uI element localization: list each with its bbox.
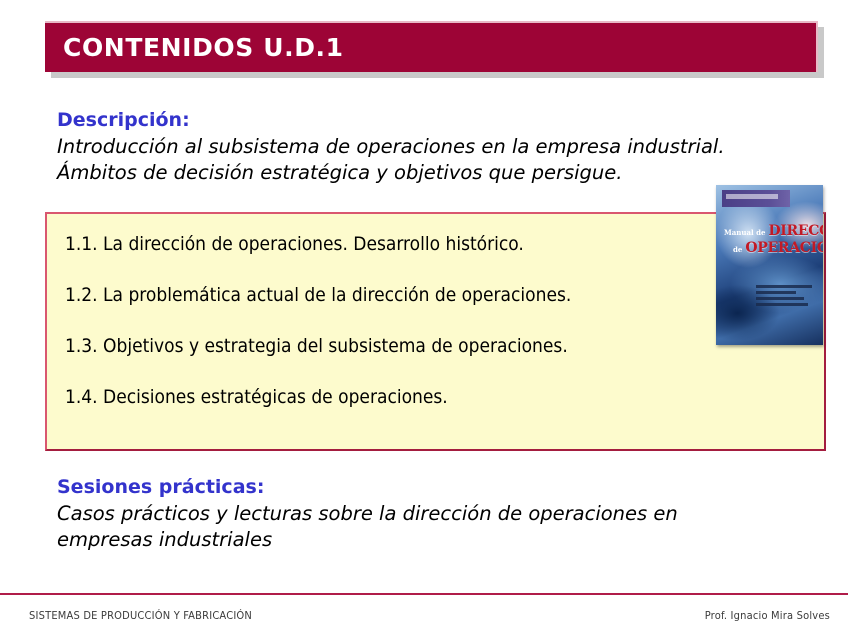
book-title-block: Manual de DIRECCIÓN de OPERACIONES bbox=[724, 223, 820, 256]
page-title: CONTENIDOS U.D.1 bbox=[45, 33, 344, 62]
book-cover-image: Manual de DIRECCIÓN de OPERACIONES bbox=[716, 185, 823, 345]
list-item: 1.1. La dirección de operaciones. Desarr… bbox=[65, 233, 824, 284]
book-title-line-2: de OPERACIONES bbox=[733, 240, 820, 256]
description-line-1: Introducción al subsistema de operacione… bbox=[57, 134, 823, 160]
book-author-line bbox=[756, 303, 808, 306]
book-author-line bbox=[756, 285, 812, 288]
practice-line-2: empresas industriales bbox=[57, 527, 838, 553]
book-author-line bbox=[756, 291, 796, 294]
book-cover-artwork bbox=[716, 185, 823, 345]
book-publisher-text bbox=[726, 194, 778, 199]
practice-sessions-section: Sesiones prácticas: Casos prácticos y le… bbox=[57, 475, 838, 553]
practice-heading: Sesiones prácticas: bbox=[57, 475, 838, 499]
footer-course-label: SISTEMAS DE PRODUCCIÓN Y FABRICACIÓN bbox=[29, 609, 252, 622]
practice-line-1: Casos prácticos y lecturas sobre la dire… bbox=[57, 501, 835, 527]
contents-box: 1.1. La dirección de operaciones. Desarr… bbox=[45, 212, 826, 451]
slide-canvas: { "slide": { "title": "CONTENIDOS U.D.1"… bbox=[0, 0, 848, 636]
footer-divider bbox=[0, 593, 848, 595]
book-author-line bbox=[756, 297, 804, 300]
description-heading: Descripción: bbox=[57, 108, 830, 132]
list-item: 1.2. La problemática actual de la direcc… bbox=[65, 284, 824, 335]
book-de-label: de bbox=[733, 245, 742, 254]
list-item: 1.4. Decisiones estratégicas de operacio… bbox=[65, 386, 824, 437]
book-authors-text bbox=[756, 285, 814, 309]
book-title-line-1: Manual de DIRECCIÓN bbox=[724, 223, 820, 239]
list-item: 1.3. Objetivos y estrategia del subsiste… bbox=[65, 335, 824, 386]
description-line-2: Ámbitos de decisión estratégica y objeti… bbox=[57, 160, 830, 186]
book-title-operaciones: OPERACIONES bbox=[745, 240, 823, 256]
description-section: Descripción: Introducción al subsistema … bbox=[57, 108, 830, 186]
book-title-direccion: DIRECCIÓN bbox=[768, 223, 823, 239]
book-manual-label: Manual de bbox=[724, 228, 765, 237]
footer-author-label: Prof. Ignacio Mira Solves bbox=[705, 609, 830, 622]
book-publisher-band bbox=[722, 190, 790, 207]
contents-list: 1.1. La dirección de operaciones. Desarr… bbox=[47, 214, 824, 437]
slide-title-bar: CONTENIDOS U.D.1 bbox=[45, 21, 818, 72]
